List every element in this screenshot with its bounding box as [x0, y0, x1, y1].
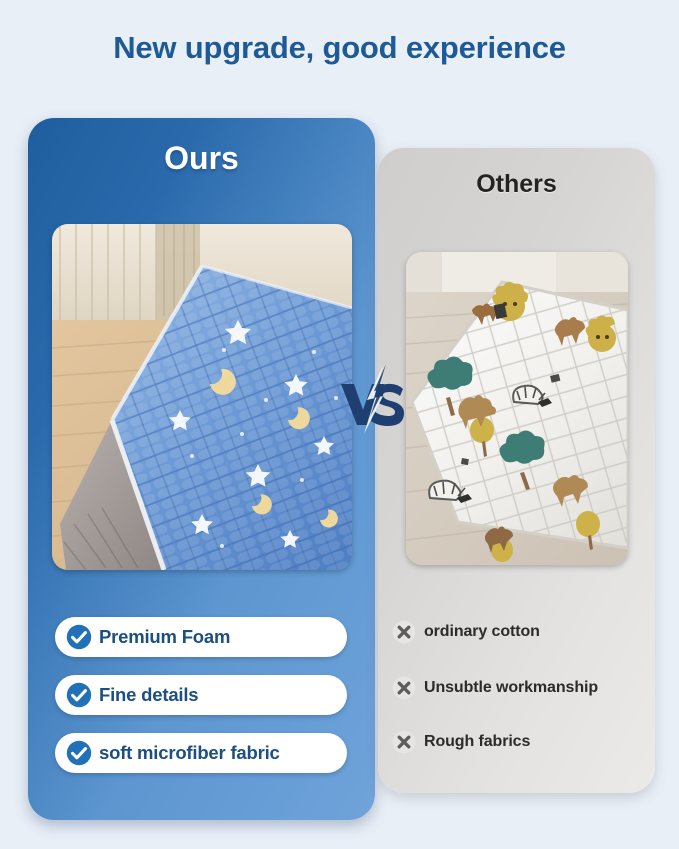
feature-pill-fine-details[interactable]: Fine details — [55, 675, 347, 715]
product-photo-ours — [52, 224, 352, 570]
con-item-label: ordinary cotton — [424, 623, 540, 641]
con-item-unsubtle-workmanship[interactable]: Unsubtle workmanship — [392, 676, 598, 700]
feature-pill-label: Premium Foam — [99, 626, 230, 648]
page-title: New upgrade, good experience — [0, 30, 679, 66]
check-circle-icon — [66, 682, 92, 708]
panel-heading-ours: Ours — [28, 140, 375, 177]
blue-mattress-pad-illustration — [52, 224, 352, 570]
feature-pill-premium-foam[interactable]: Premium Foam — [55, 617, 347, 657]
con-item-rough-fabrics[interactable]: Rough fabrics — [392, 730, 530, 754]
product-photo-others — [406, 252, 628, 565]
con-item-label: Unsubtle workmanship — [424, 679, 598, 697]
comparison-panel-ours: Ours — [28, 118, 375, 820]
con-item-label: Rough fabrics — [424, 733, 530, 751]
panel-heading-others: Others — [378, 170, 655, 199]
feature-pill-label: soft microfiber fabric — [99, 742, 280, 764]
check-circle-icon — [66, 624, 92, 650]
feature-pill-soft-microfiber-fabric[interactable]: soft microfiber fabric — [55, 733, 347, 773]
comparison-panel-others: Others — [378, 148, 655, 793]
feature-pill-label: Fine details — [99, 684, 198, 706]
check-circle-icon — [66, 740, 92, 766]
versus-badge — [337, 362, 415, 438]
con-item-ordinary-cotton[interactable]: ordinary cotton — [392, 620, 540, 644]
vs-lightning-icon — [337, 362, 415, 438]
x-circle-icon — [392, 676, 416, 700]
x-circle-icon — [392, 620, 416, 644]
x-circle-icon — [392, 730, 416, 754]
white-animal-mat-illustration — [406, 252, 628, 565]
